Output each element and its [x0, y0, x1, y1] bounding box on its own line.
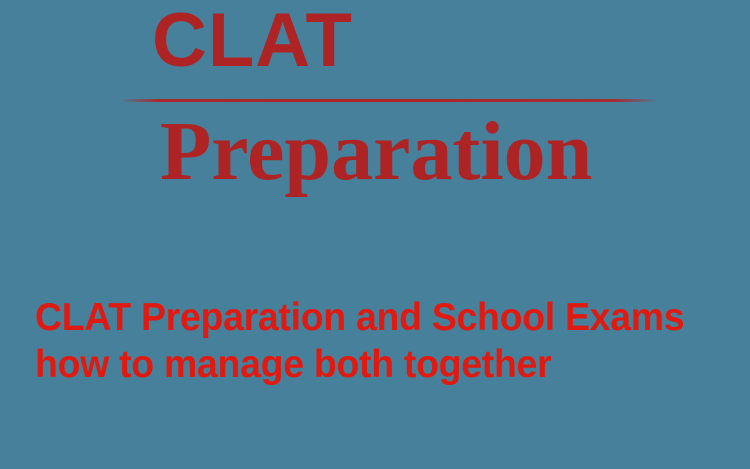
headline-line-1: CLAT Preparation and School Exams: [35, 294, 707, 341]
headline-block: CLAT Preparation and School Exams how to…: [35, 294, 735, 388]
logo-word-clat: CLAT: [152, 0, 353, 84]
headline-line-2: how to manage both together: [35, 341, 707, 388]
clat-preparation-logo: CLAT Preparation: [0, 0, 750, 210]
poster-canvas: CLAT Preparation CLAT Preparation and Sc…: [0, 0, 750, 469]
logo-word-preparation: Preparation: [160, 100, 592, 204]
